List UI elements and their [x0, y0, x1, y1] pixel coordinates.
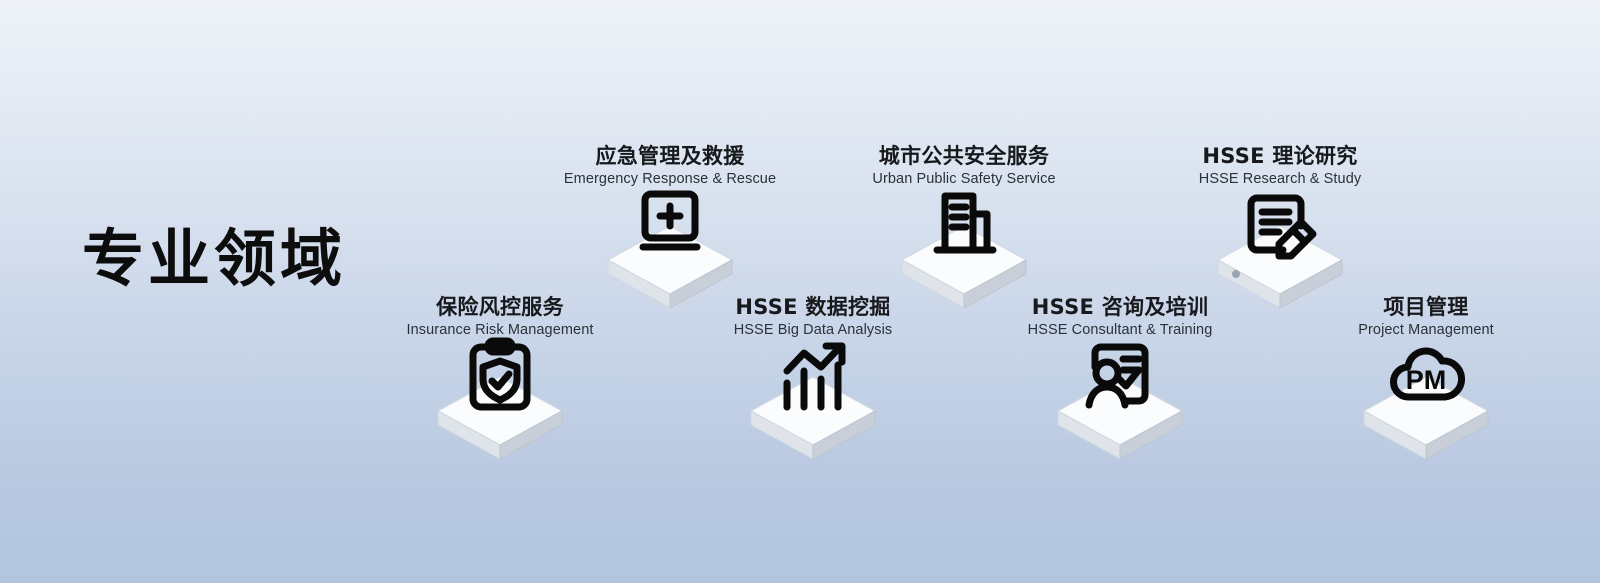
- domain-icon-group: [520, 198, 820, 308]
- domain-title: HSSE 数据挖掘: [663, 296, 963, 319]
- domain-icon-group: [350, 349, 650, 459]
- domain-title: HSSE 咨询及培训: [970, 296, 1270, 319]
- domain-card-urban-public-safety-service[interactable]: 城市公共安全服务 Urban Public Safety Service: [814, 145, 1114, 308]
- domain-card-hsse-research-study[interactable]: HSSE 理论研究 HSSE Research & Study: [1130, 145, 1430, 308]
- clipboard-shield-check-icon: [461, 337, 539, 415]
- domain-title: HSSE 理论研究: [1130, 145, 1430, 168]
- domain-icon-group: [814, 198, 1114, 308]
- domain-icon-group: PM: [1276, 349, 1576, 459]
- cloud-pm-label: PM: [1406, 365, 1447, 395]
- domain-title: 应急管理及救援: [520, 145, 820, 168]
- domain-title: 项目管理: [1276, 296, 1576, 319]
- city-buildings-icon: [925, 186, 1003, 264]
- domain-card-emergency-response-rescue[interactable]: 应急管理及救援 Emergency Response & Rescue: [520, 145, 820, 308]
- page-title: 专业领域: [82, 228, 346, 290]
- bar-chart-trend-up-icon: [774, 337, 852, 415]
- person-card-check-icon: [1081, 337, 1159, 415]
- domain-title: 保险风控服务: [350, 296, 650, 319]
- domain-icon-group: [1130, 198, 1430, 308]
- domain-title: 城市公共安全服务: [814, 145, 1114, 168]
- domain-card-hsse-consultant-training[interactable]: HSSE 咨询及培训 HSSE Consultant & Training: [970, 296, 1270, 459]
- domain-icon-group: [970, 349, 1270, 459]
- domain-card-insurance-risk-management[interactable]: 保险风控服务 Insurance Risk Management: [350, 296, 650, 459]
- domain-card-hsse-big-data-analysis[interactable]: HSSE 数据挖掘 HSSE Big Data Analysis: [663, 296, 963, 459]
- first-aid-monitor-icon: [631, 186, 709, 264]
- domain-card-project-management[interactable]: 项目管理 Project Management PM: [1276, 296, 1576, 459]
- professional-domains-banner: 专业领域 应急管理及救援 Emergency Response & Rescue: [0, 0, 1600, 583]
- document-pencil-icon: [1241, 186, 1319, 264]
- domain-icon-group: [663, 349, 963, 459]
- cloud-pm-icon: PM: [1387, 337, 1465, 415]
